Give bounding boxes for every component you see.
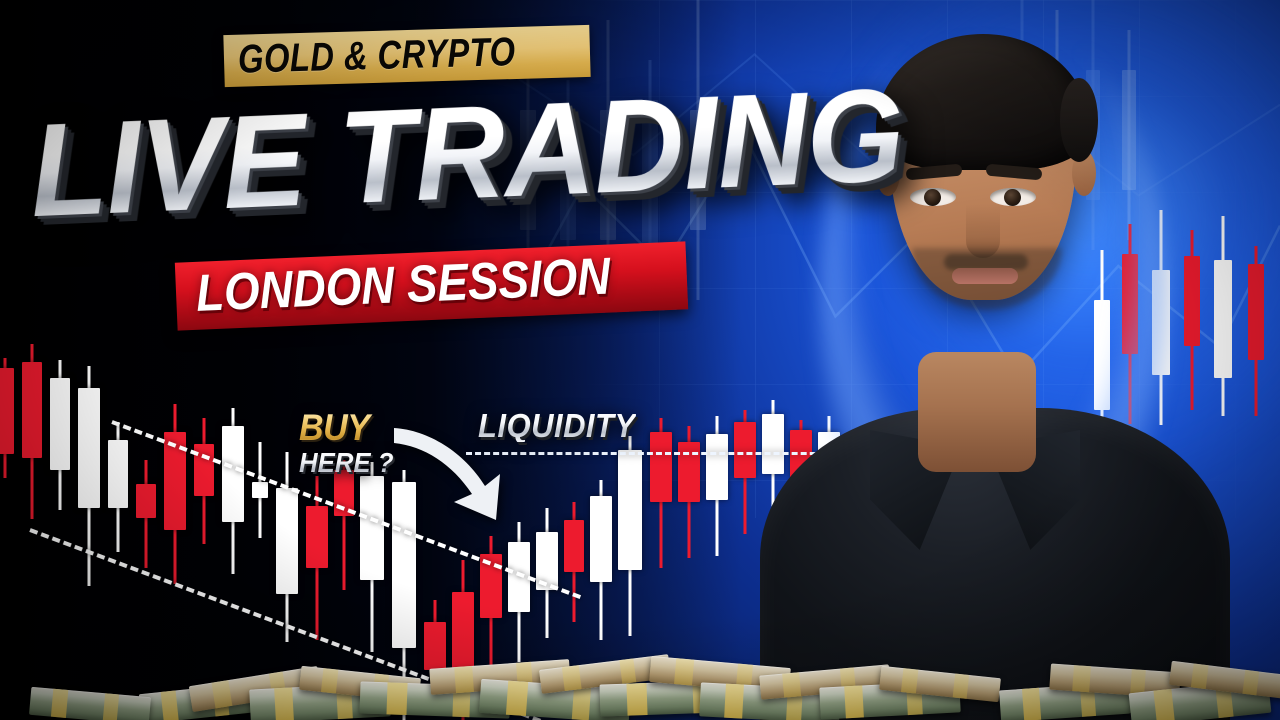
mouth [952,268,1018,284]
cash-stacks [0,610,1280,720]
buy-label: BUY [299,409,393,446]
subtitle-badge-label: LONDON SESSION [195,251,611,320]
curved-arrow-icon [392,424,524,528]
eyebrow-badge-label: GOLD & CRYPTO [237,32,516,80]
thumbnail-canvas: BUY HERE ? LIQUIDITY [0,0,1280,720]
subject-neck [918,352,1036,472]
buy-here-annotation: BUY HERE ? [299,409,402,477]
headline-label: LIVE TRADING [28,71,906,235]
page-title: LIVE TRADING [28,69,952,235]
here-label: HERE ? [299,449,393,477]
